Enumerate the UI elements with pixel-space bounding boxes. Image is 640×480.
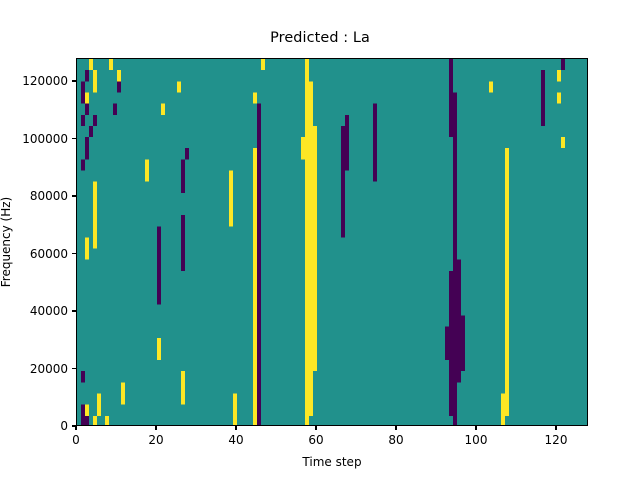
y-tick-mark	[72, 253, 76, 254]
x-tick-mark	[75, 426, 76, 430]
x-tick-label: 80	[388, 433, 403, 447]
x-tick-label: 120	[545, 433, 568, 447]
x-tick-mark	[155, 426, 156, 430]
x-tick-label: 100	[465, 433, 488, 447]
y-tick-mark	[72, 310, 76, 311]
x-tick-label: 60	[308, 433, 323, 447]
y-tick-label: 120000	[22, 74, 68, 88]
x-axis-label: Time step	[76, 455, 588, 469]
y-tick-label: 40000	[30, 304, 68, 318]
y-tick-mark	[72, 368, 76, 369]
y-tick-label: 60000	[30, 247, 68, 261]
y-tick-mark	[72, 195, 76, 196]
page-title: Predicted : La	[0, 30, 640, 46]
x-tick-mark	[235, 426, 236, 430]
x-tick-label: 20	[148, 433, 163, 447]
y-tick-mark	[72, 80, 76, 81]
x-tick-label: 0	[72, 433, 80, 447]
x-tick-mark	[315, 426, 316, 430]
x-tick-mark	[475, 426, 476, 430]
heatmap-image	[77, 59, 588, 426]
x-tick-mark	[395, 426, 396, 430]
y-tick-label: 80000	[30, 189, 68, 203]
y-tick-label: 20000	[30, 362, 68, 376]
y-axis-label-text: Frequency (Hz)	[0, 197, 13, 288]
y-tick-label: 100000	[22, 132, 68, 146]
y-tick-mark	[72, 138, 76, 139]
matplotlib-figure: Predicted : La 0200004000060000800001000…	[0, 0, 640, 480]
heatmap-axes	[76, 58, 588, 426]
y-tick-label: 0	[60, 419, 68, 433]
x-tick-mark	[555, 426, 556, 430]
x-tick-label: 40	[228, 433, 243, 447]
